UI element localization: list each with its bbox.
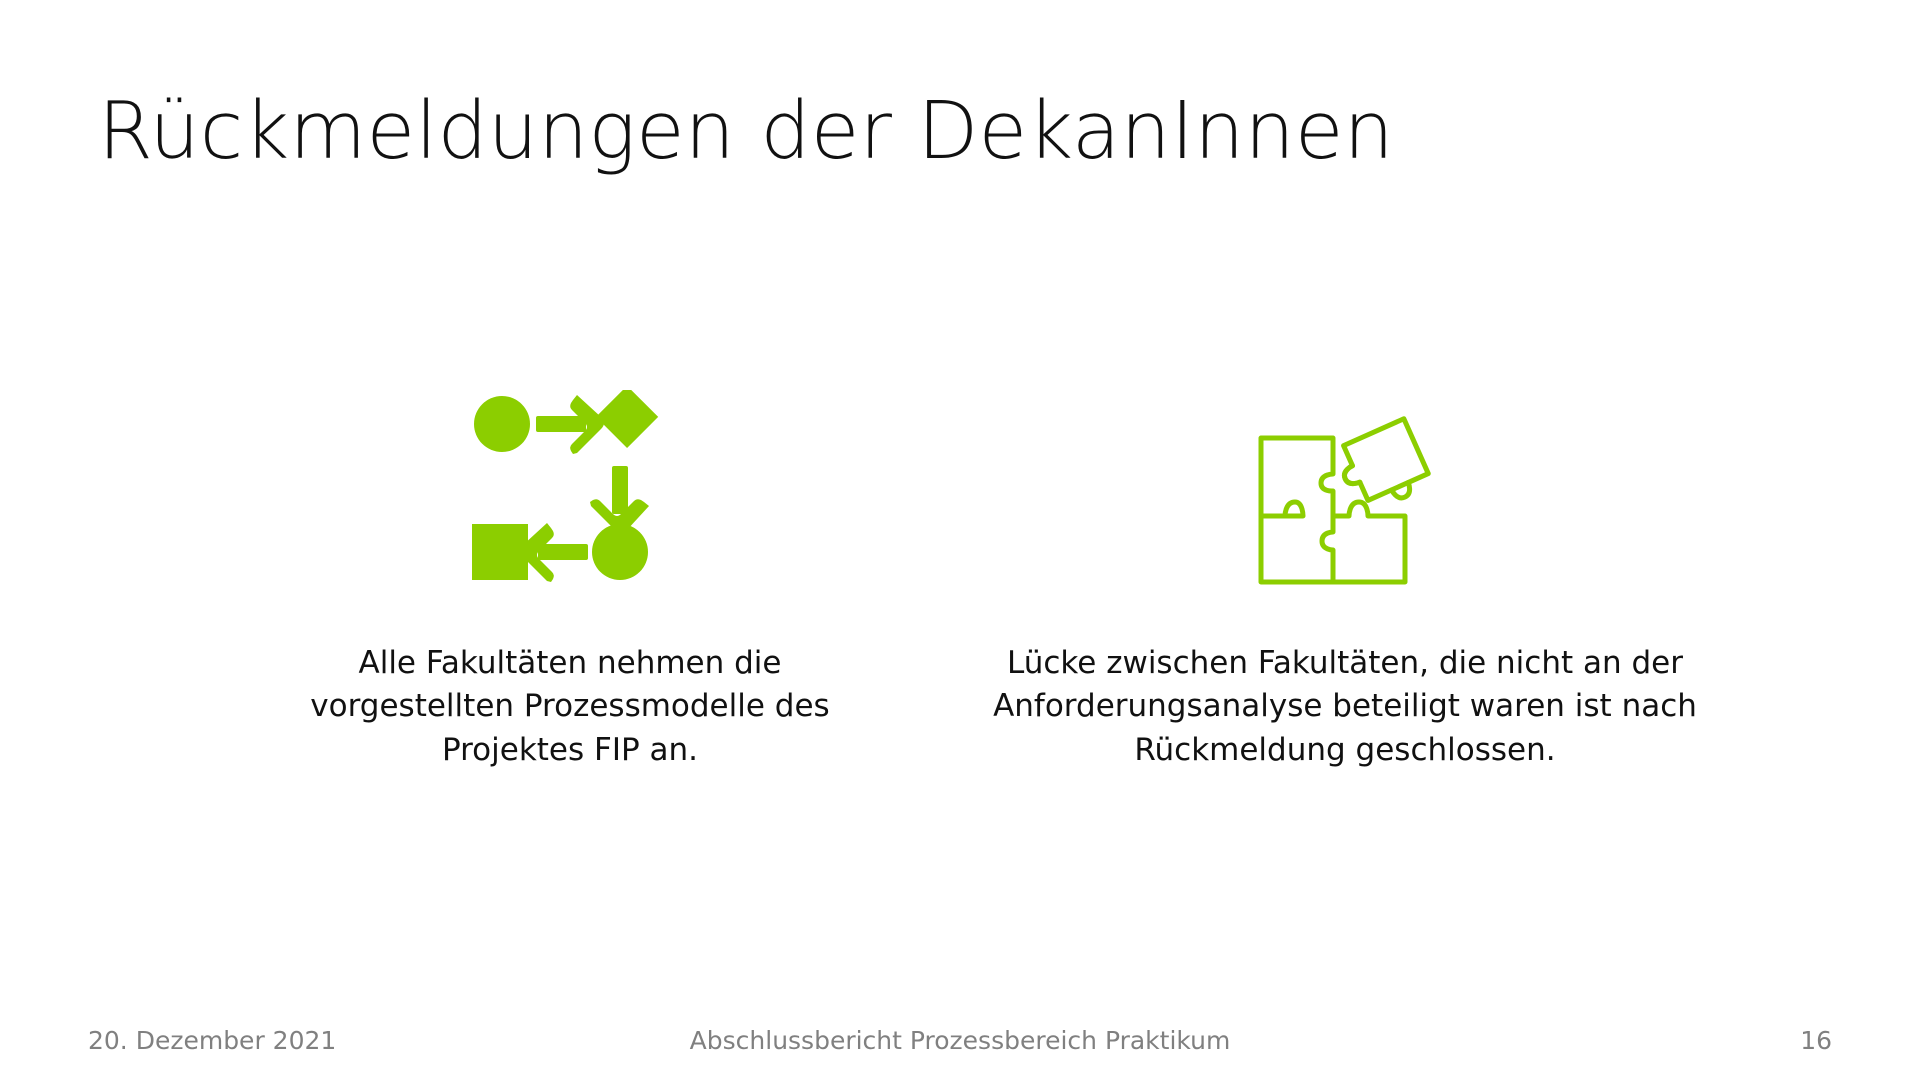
content-column-left: Alle Fakultäten nehmen die vorgestellten…: [290, 390, 850, 772]
puzzle-pieces-icon-wrap: [1245, 390, 1445, 586]
process-flow-icon-wrap: [470, 390, 670, 586]
process-flow-icon: [470, 390, 670, 586]
page-title: Rückmeldungen der DekanInnen: [98, 88, 1598, 175]
footer-subject: Abschlussbericht Prozessbereich Praktiku…: [0, 1026, 1920, 1055]
puzzle-pieces-icon: [1245, 390, 1445, 586]
slide-canvas: Rückmeldungen der DekanInnen: [0, 0, 1920, 1080]
column-caption-left: Alle Fakultäten nehmen die vorgestellten…: [310, 642, 830, 772]
column-caption-right: Lücke zwischen Fakultäten, die nicht an …: [965, 642, 1725, 772]
content-column-right: Lücke zwischen Fakultäten, die nicht an …: [960, 390, 1730, 772]
slide-footer: 20. Dezember 2021 Abschlussbericht Proze…: [0, 1026, 1920, 1066]
footer-page-number: 16: [1800, 1026, 1832, 1055]
